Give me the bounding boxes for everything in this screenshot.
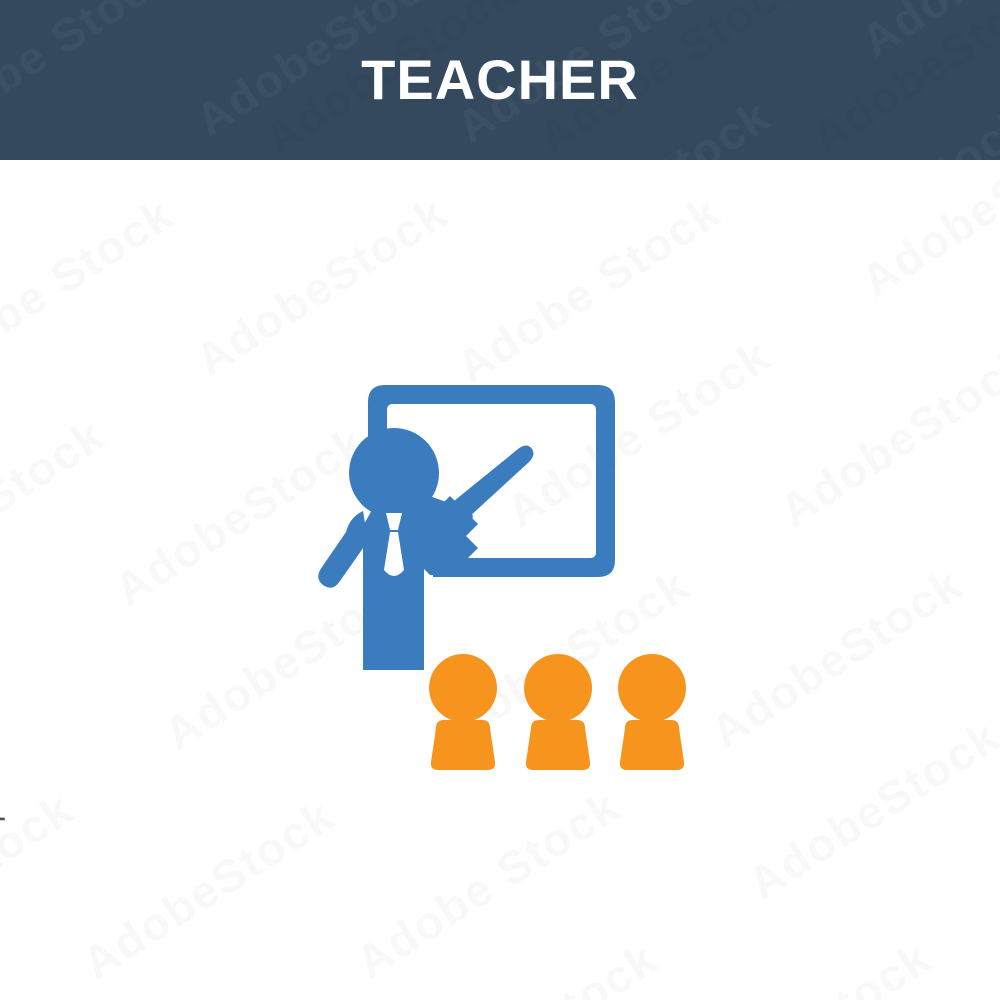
watermark-text: AdobeStock — [644, 890, 966, 1000]
screenshot-canvas: AdobeStockAdobe StockAdobeStockAdobe Sto… — [0, 0, 1000, 1000]
watermark-text: AdobeStock — [744, 295, 1000, 576]
watermark-text: AdobeStock — [47, 748, 369, 1000]
watermark-row: Adobe StockAdobeStockAdobe StockAdobeSto… — [257, 889, 1000, 1000]
watermark-text: Adobe Stock — [986, 660, 1000, 949]
teacher-icon-svg — [300, 370, 700, 770]
page-title: TEACHER — [0, 0, 1000, 160]
teacher-concept-illustration — [300, 370, 700, 770]
watermark-text: AdobeStock — [675, 517, 997, 798]
student-2 — [524, 654, 592, 770]
pointer-stick — [454, 446, 533, 519]
watermark-text: Adobe Stock — [905, 889, 1000, 1000]
student-1 — [429, 654, 497, 770]
watermark-text: Adobe Stock — [0, 741, 108, 1000]
teacher-lowered-arm — [318, 511, 368, 588]
watermark-text: Adobe Stock — [321, 739, 656, 1000]
watermark-text: Adobe Stock — [358, 891, 693, 1000]
stock-credit-label: Adobe Stock | #338945927 — [0, 687, 6, 962]
watermark-row: AdobeStockAdobe StockAdobeStockAdobe Sto… — [177, 765, 1000, 1000]
header-band: AdobeStockAdobe StockAdobeStockAdobe Sto… — [0, 0, 1000, 160]
watermark-text: AdobeStock — [713, 669, 1000, 950]
student-3 — [618, 654, 686, 770]
watermark-text: Adobe Stock — [0, 368, 140, 657]
watermark-text: Adobe Stock — [0, 147, 209, 436]
